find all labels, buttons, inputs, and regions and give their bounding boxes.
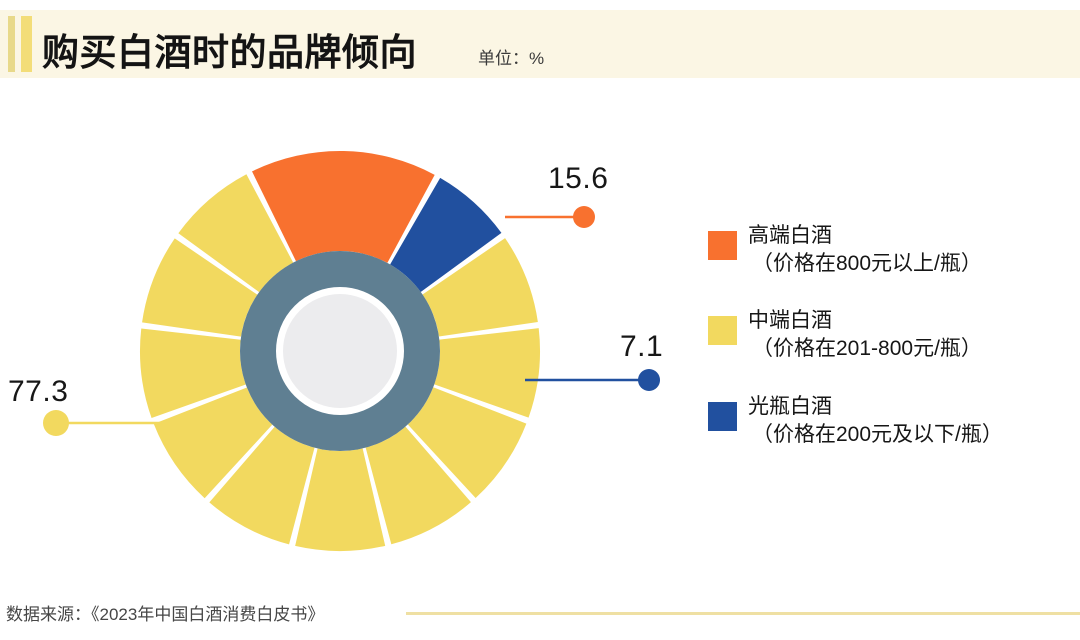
footer: 数据来源：《2023年中国白酒消费白皮书》	[0, 600, 1080, 640]
legend-item-low-end[interactable]: 光瓶白酒 （价格在200元及以下/瓶）	[708, 393, 1074, 448]
leader-line-high	[505, 206, 595, 228]
legend-detail-mid-end: （价格在201-800元/瓶）	[748, 335, 982, 363]
legend-swatch-high-end	[708, 231, 737, 260]
leader-dot-high	[573, 206, 595, 228]
title-accent-bar-outer	[8, 16, 15, 72]
legend-text-mid-end: 中端白酒 （价格在201-800元/瓶）	[748, 307, 982, 362]
leader-line-low	[525, 369, 660, 391]
legend-swatch-low-end	[708, 402, 737, 431]
source-note: 数据来源：《2023年中国白酒消费白皮书》	[6, 600, 324, 625]
value-label-mid-end: 77.3	[8, 375, 68, 409]
legend-text-low-end: 光瓶白酒 （价格在200元及以下/瓶）	[748, 393, 1003, 448]
legend-detail-low-end: （价格在200元及以下/瓶）	[748, 421, 1003, 449]
legend-swatch-mid-end	[708, 316, 737, 345]
unit-label: 单位：%	[478, 44, 544, 69]
legend-detail-high-end: （价格在800元以上/瓶）	[748, 250, 982, 278]
leader-line-mid	[43, 410, 163, 436]
legend: 高端白酒 （价格在800元以上/瓶） 中端白酒 （价格在201-800元/瓶） …	[708, 222, 1074, 448]
legend-text-high-end: 高端白酒 （价格在800元以上/瓶）	[748, 222, 982, 277]
center-core-circle	[283, 294, 397, 408]
footer-divider	[406, 612, 1080, 615]
title-accent-bar-inner	[21, 16, 32, 72]
leader-dot-mid	[43, 410, 69, 436]
page-title: 购买白酒时的品牌倾向	[42, 22, 417, 76]
legend-label-high-end: 高端白酒	[748, 222, 982, 250]
legend-label-low-end: 光瓶白酒	[748, 393, 1003, 421]
leader-dot-low	[638, 369, 660, 391]
legend-label-mid-end: 中端白酒	[748, 307, 982, 335]
value-label-high-end: 15.6	[548, 162, 608, 196]
value-label-low-end: 7.1	[620, 330, 663, 364]
legend-item-high-end[interactable]: 高端白酒 （价格在800元以上/瓶）	[708, 222, 1074, 277]
legend-item-mid-end[interactable]: 中端白酒 （价格在201-800元/瓶）	[708, 307, 1074, 362]
